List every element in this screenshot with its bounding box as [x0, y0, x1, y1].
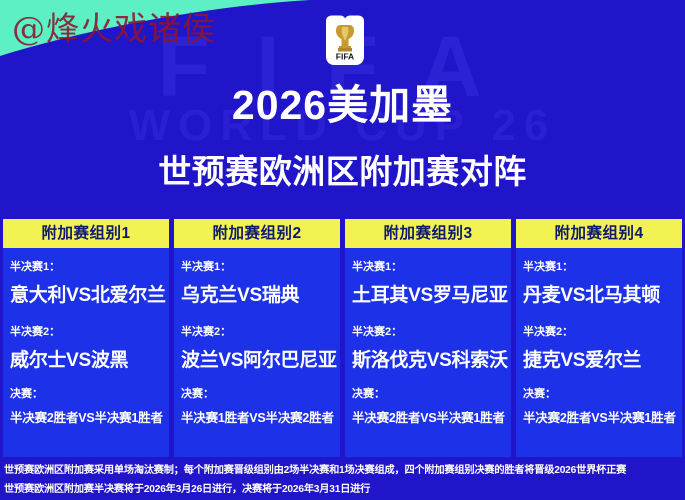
fifa-26-logo: FIFA [320, 15, 370, 75]
footer-notes: 世预赛欧洲区附加赛采用单场淘汰赛制；每个附加赛晋级组别由2场半决赛和1场决赛组成… [0, 457, 685, 500]
group-body: 半决赛1： 丹麦VS北马其顿 半决赛2： 捷克VS爱尔兰 决赛： 半决赛2胜者V… [516, 248, 682, 457]
playoff-group-card: 附加赛组别2 半决赛1： 乌克兰VS瑞典 半决赛2： 波兰VS阿尔巴尼亚 决赛：… [174, 219, 340, 457]
semifinal-1-label: 半决赛1： [352, 258, 504, 274]
group-body: 半决赛1： 土耳其VS罗马尼亚 半决赛2： 斯洛伐克VS科索沃 决赛： 半决赛2… [345, 248, 511, 457]
semifinal-1-teams: 丹麦VS北马其顿 [523, 280, 675, 307]
semifinal-2-teams: 斯洛伐克VS科索沃 [352, 345, 504, 372]
semifinal-2-teams: 波兰VS阿尔巴尼亚 [181, 345, 333, 372]
semifinal-2-label: 半决赛2： [352, 323, 504, 339]
semifinal-1-teams: 意大利VS北爱尔兰 [10, 280, 162, 307]
final-label: 决赛： [181, 385, 333, 401]
semifinal-1-teams: 乌克兰VS瑞典 [181, 280, 333, 307]
semifinal-2-teams: 威尔士VS波黑 [10, 345, 162, 372]
semifinal-1-label: 半决赛1： [181, 258, 333, 274]
group-title: 附加赛组别2 [174, 219, 340, 248]
page-title: 2026美加墨 [0, 85, 685, 126]
final-label: 决赛： [352, 385, 504, 401]
playoff-group-card: 附加赛组别4 半决赛1： 丹麦VS北马其顿 半决赛2： 捷克VS爱尔兰 决赛： … [516, 219, 682, 457]
semifinal-2-label: 半决赛2： [181, 323, 333, 339]
final-matchup: 半决赛2胜者VS半决赛1胜者 [523, 407, 675, 426]
final-matchup: 半决赛2胜者VS半决赛1胜者 [352, 407, 504, 426]
group-body: 半决赛1： 乌克兰VS瑞典 半决赛2： 波兰VS阿尔巴尼亚 决赛： 半决赛1胜者… [174, 248, 340, 457]
footer-note-format: 世预赛欧洲区附加赛采用单场淘汰赛制；每个附加赛晋级组别由2场半决赛和1场决赛组成… [4, 461, 681, 480]
playoff-group-card: 附加赛组别1 半决赛1： 意大利VS北爱尔兰 半决赛2： 威尔士VS波黑 决赛：… [3, 219, 169, 457]
group-title: 附加赛组别3 [345, 219, 511, 248]
final-matchup: 半决赛1胜者VS半决赛2胜者 [181, 407, 333, 426]
semifinal-1-label: 半决赛1： [10, 258, 162, 274]
semifinal-1-teams: 土耳其VS罗马尼亚 [352, 280, 504, 307]
group-title: 附加赛组别1 [3, 219, 169, 248]
final-label: 决赛： [523, 385, 675, 401]
playoff-groups-container: 附加赛组别1 半决赛1： 意大利VS北爱尔兰 半决赛2： 威尔士VS波黑 决赛：… [0, 219, 685, 457]
footer-note-dates: 世预赛欧洲区附加赛半决赛将于2026年3月26日进行，决赛将于2026年3月31… [4, 480, 681, 499]
playoff-group-card: 附加赛组别3 半决赛1： 土耳其VS罗马尼亚 半决赛2： 斯洛伐克VS科索沃 决… [345, 219, 511, 457]
page-subtitle: 世预赛欧洲区附加赛对阵 [0, 155, 685, 188]
final-label: 决赛： [10, 385, 162, 401]
group-body: 半决赛1： 意大利VS北爱尔兰 半决赛2： 威尔士VS波黑 决赛： 半决赛2胜者… [3, 248, 169, 457]
group-title: 附加赛组别4 [516, 219, 682, 248]
semifinal-2-label: 半决赛2： [10, 323, 162, 339]
svg-text:FIFA: FIFA [336, 52, 354, 62]
semifinal-2-teams: 捷克VS爱尔兰 [523, 345, 675, 372]
final-matchup: 半决赛2胜者VS半决赛1胜者 [10, 407, 162, 426]
semifinal-1-label: 半决赛1： [523, 258, 675, 274]
semifinal-2-label: 半决赛2： [523, 323, 675, 339]
uploader-watermark: @烽火戏诸侯 [12, 2, 216, 50]
